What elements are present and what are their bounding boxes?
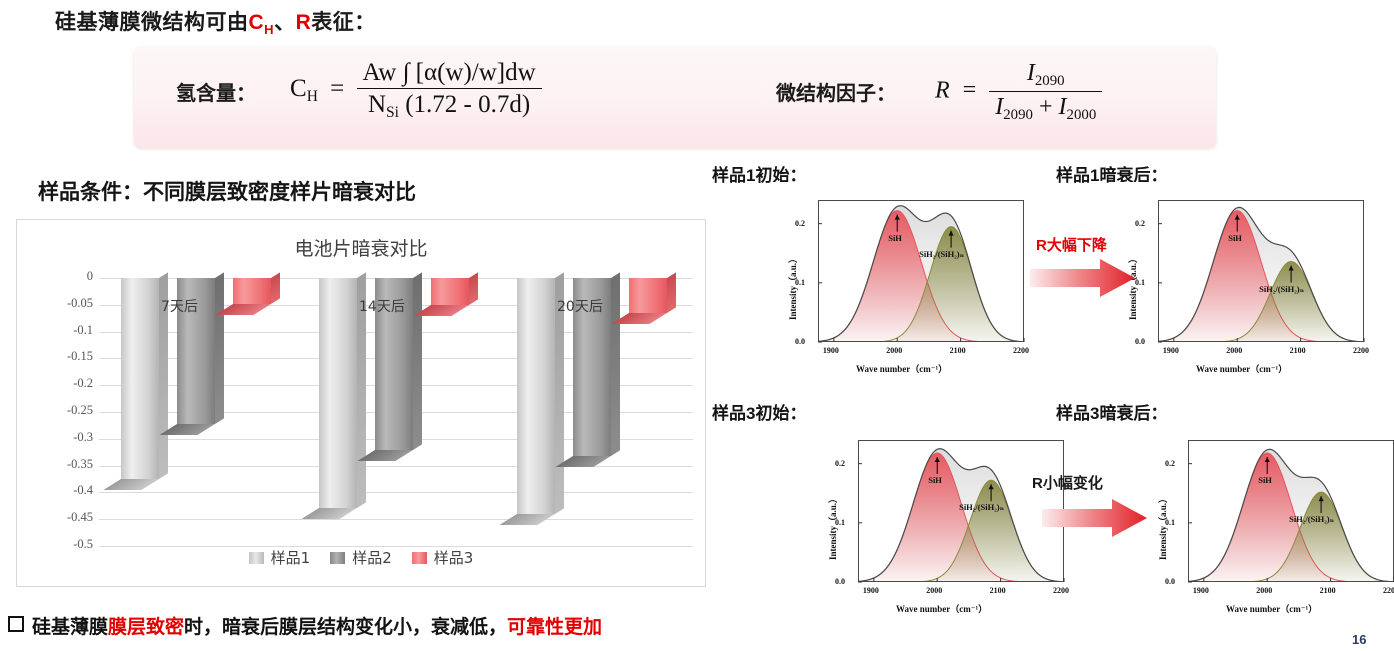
- bar-3-1: [431, 278, 469, 305]
- peak-label-sih2: SiH₂/(SiH₂)ₙ: [919, 249, 964, 260]
- legend-item-sample1: 样品1: [249, 547, 311, 568]
- conclusion-highlight2: 可靠性更加: [507, 616, 602, 638]
- x-axis-tick: 2100: [1320, 586, 1336, 595]
- page-title-prefix: 硅基薄膜微结构可由: [55, 11, 249, 34]
- y-axis-tick: 0.2: [835, 459, 845, 468]
- y-axis-title: Intensity（a.u.）: [826, 494, 839, 560]
- ch-lhs: CH: [290, 75, 318, 102]
- r-fraction: I2090 I2090 + I2000: [989, 60, 1102, 124]
- ch-den-n: N: [368, 91, 386, 118]
- y-axis-tick: -0.4: [37, 483, 93, 498]
- microstructure-factor-formula: R = I2090 I2090 + I2000: [935, 60, 1102, 124]
- y-axis-tick: 0.0: [835, 577, 845, 586]
- bar-side: [215, 272, 224, 423]
- legend-label-sample2: 样品2: [352, 547, 392, 568]
- grid-line: [99, 519, 693, 520]
- category-label-2: 20天后: [557, 296, 603, 316]
- conclusion-text: 硅基薄膜膜层致密时，暗衰后膜层结构变化小，衰减低，可靠性更加: [8, 612, 602, 639]
- conclusion-part2: 时，暗衰后膜层结构变化小，衰减低，: [184, 616, 507, 638]
- ch-denominator: NSi (1.72 - 0.7d): [357, 88, 542, 122]
- r-den-sub1: 2090: [1003, 107, 1033, 123]
- y-axis-tick: -0.05: [37, 296, 93, 311]
- y-axis-title: Intensity（a.u.）: [1156, 494, 1169, 560]
- y-axis-tick: -0.25: [37, 403, 93, 418]
- y-axis-tick: 0.2: [1135, 219, 1145, 228]
- hydrogen-content-label: 氢含量：: [176, 77, 256, 106]
- x-axis-tick: 1900: [823, 346, 839, 355]
- bar-face: [121, 278, 159, 479]
- x-axis-tick: 1900: [1163, 346, 1179, 355]
- y-axis-title: Intensity（a.u.）: [786, 254, 799, 320]
- sample-condition-title: 样品条件：不同膜层致密度样片暗衰对比: [38, 176, 416, 206]
- spectrum-panel-sample1-after: SiHSiH₂/(SiH₂)ₙ19002000210022000.00.10.2…: [1112, 182, 1374, 394]
- x-axis-tick: 2000: [1256, 586, 1272, 595]
- x-axis-tick: 2200: [1053, 586, 1069, 595]
- y-axis-tick: 0: [37, 269, 93, 284]
- category-label-1: 14天后: [359, 296, 405, 316]
- x-axis-tick: 2200: [1013, 346, 1029, 355]
- microstructure-factor-label: 微结构因子：: [776, 77, 896, 106]
- page-title: 硅基薄膜微结构可由CH、R表征：: [55, 6, 376, 37]
- page-title-symbol-r: R: [296, 11, 312, 34]
- bar-bottom: [103, 479, 159, 490]
- page-title-suffix: 表征：: [311, 11, 376, 34]
- r-den-i2: I: [1059, 94, 1067, 120]
- panel-title-sample3-initial: 样品3初始：: [712, 399, 806, 424]
- bar-3-2: [629, 278, 667, 313]
- page-number: 16: [1352, 632, 1366, 647]
- ch-numerator: Aw ∫ [α(w)/w]dw: [357, 59, 542, 88]
- r-num-i: I: [1027, 60, 1035, 86]
- bar-1-2: [517, 278, 555, 514]
- bar-chart-legend: 样品1 样品2 样品3: [17, 547, 705, 568]
- bar-side: [271, 272, 280, 303]
- red-arrow-bottom-icon: [1042, 498, 1148, 538]
- annotation-r-small-change: R小幅变化: [1032, 472, 1103, 493]
- annotation-r-large-drop: R大幅下降: [1036, 234, 1107, 255]
- x-axis-tick: 2200: [1383, 586, 1394, 595]
- legend-label-sample1: 样品1: [271, 547, 311, 568]
- peak-label-sih: SiH: [1228, 233, 1242, 243]
- peak-label-sih: SiH: [888, 233, 902, 243]
- x-axis-tick: 2100: [950, 346, 966, 355]
- conclusion-highlight1: 膜层致密: [108, 616, 184, 638]
- y-axis-tick: 0.0: [795, 337, 805, 346]
- y-axis-tick: 0.0: [1165, 577, 1175, 586]
- ch-equals: =: [330, 75, 344, 102]
- bar-face: [319, 278, 357, 508]
- conclusion-part1: 硅基薄膜: [32, 616, 108, 638]
- bar-face: [233, 278, 271, 304]
- y-axis-tick: -0.2: [37, 376, 93, 391]
- peak-label-sih2: SiH₂/(SiH₂)ₙ: [1289, 514, 1334, 525]
- peak-label-sih: SiH: [1258, 475, 1272, 485]
- r-denominator: I2090 + I2000: [989, 91, 1102, 124]
- ch-lhs-c: C: [290, 75, 307, 102]
- x-axis-title: Wave number（cm⁻¹）: [1226, 602, 1317, 615]
- bar-3-0: [233, 278, 271, 304]
- bar-side: [413, 272, 422, 449]
- x-axis-tick: 2200: [1353, 346, 1369, 355]
- ch-den-rest: (1.72 - 0.7d): [405, 91, 530, 118]
- legend-swatch-sample1-icon: [249, 552, 264, 564]
- bar-side: [469, 272, 478, 304]
- bar-face: [629, 278, 667, 313]
- ch-fraction: Aw ∫ [α(w)/w]dw NSi (1.72 - 0.7d): [357, 59, 542, 122]
- ch-den-sub: Si: [386, 104, 399, 121]
- r-num-sub: 2090: [1035, 73, 1065, 89]
- r-equals: =: [963, 77, 977, 103]
- y-axis-tick: 0.2: [795, 219, 805, 228]
- r-den-plus: +: [1039, 94, 1053, 120]
- x-axis-tick: 2000: [886, 346, 902, 355]
- r-den-sub2: 2000: [1067, 107, 1097, 123]
- y-axis-tick: -0.3: [37, 430, 93, 445]
- legend-item-sample3: 样品3: [412, 547, 474, 568]
- x-axis-title: Wave number（cm⁻¹）: [896, 602, 987, 615]
- page-title-sep: 、: [274, 11, 296, 34]
- category-label-0: 7天后: [161, 296, 198, 316]
- x-axis-tick: 1900: [863, 586, 879, 595]
- y-axis-tick: 0.0: [1135, 337, 1145, 346]
- x-axis-title: Wave number（cm⁻¹）: [1196, 362, 1287, 375]
- bar-side: [611, 272, 620, 456]
- bar-chart-card: 电池片暗衰对比 0-0.05-0.1-0.15-0.2-0.25-0.3-0.3…: [16, 219, 706, 587]
- x-axis-tick: 2000: [1226, 346, 1242, 355]
- peak-label-sih: SiH: [928, 475, 942, 485]
- peak-label-sih2: SiH₂/(SiH₂)ₙ: [959, 502, 1004, 513]
- panel-title-sample3-after: 样品3暗衰后：: [1056, 399, 1167, 424]
- grid-line: [99, 492, 693, 493]
- bar-face: [431, 278, 469, 305]
- legend-label-sample3: 样品3: [434, 547, 474, 568]
- y-axis-tick: 0.2: [1165, 459, 1175, 468]
- y-axis-tick: -0.45: [37, 510, 93, 525]
- ch-symbol-sub: H: [264, 22, 274, 37]
- bar-face: [517, 278, 555, 514]
- bar-side: [667, 272, 676, 312]
- x-axis-tick: 1900: [1193, 586, 1209, 595]
- x-axis-tick: 2000: [926, 586, 942, 595]
- y-axis-tick: -0.15: [37, 349, 93, 364]
- ch-lhs-sub: H: [307, 88, 318, 105]
- spectrum-panel-sample3-after: SiHSiH₂/(SiH₂)ₙ19002000210022000.00.10.2…: [1142, 422, 1394, 634]
- bar-1-0: [121, 278, 159, 479]
- legend-swatch-sample3-icon: [412, 552, 427, 564]
- y-axis-tick: -0.1: [37, 323, 93, 338]
- grid-line: [99, 466, 693, 467]
- spectrum-panel-sample3-initial: SiHSiH₂/(SiH₂)ₙ19002000210022000.00.10.2…: [812, 422, 1074, 634]
- page-title-symbol-ch: CH: [249, 11, 275, 34]
- ch-symbol-c: C: [249, 11, 265, 34]
- x-axis-tick: 2100: [1290, 346, 1306, 355]
- legend-swatch-sample2-icon: [330, 552, 345, 564]
- spectrum-panel-sample1-initial: SiHSiH₂/(SiH₂)ₙ19002000210022000.00.10.2…: [772, 182, 1034, 394]
- legend-item-sample2: 样品2: [330, 547, 392, 568]
- x-axis-tick: 2100: [990, 586, 1006, 595]
- r-numerator: I2090: [989, 60, 1102, 91]
- r-lhs: R: [935, 77, 950, 103]
- red-arrow-top-icon: [1030, 258, 1136, 298]
- bar-bottom: [301, 508, 357, 519]
- bar-chart-plot-area: 0-0.05-0.1-0.15-0.2-0.25-0.3-0.35-0.4-0.…: [17, 220, 705, 586]
- hydrogen-content-formula: CH = Aw ∫ [α(w)/w]dw NSi (1.72 - 0.7d): [290, 59, 542, 122]
- x-axis-title: Wave number（cm⁻¹）: [856, 362, 947, 375]
- y-axis-tick: -0.35: [37, 457, 93, 472]
- bullet-square-icon: [8, 616, 24, 632]
- bar-1-1: [319, 278, 357, 508]
- peak-label-sih2: SiH₂/(SiH₂)ₙ: [1259, 284, 1304, 295]
